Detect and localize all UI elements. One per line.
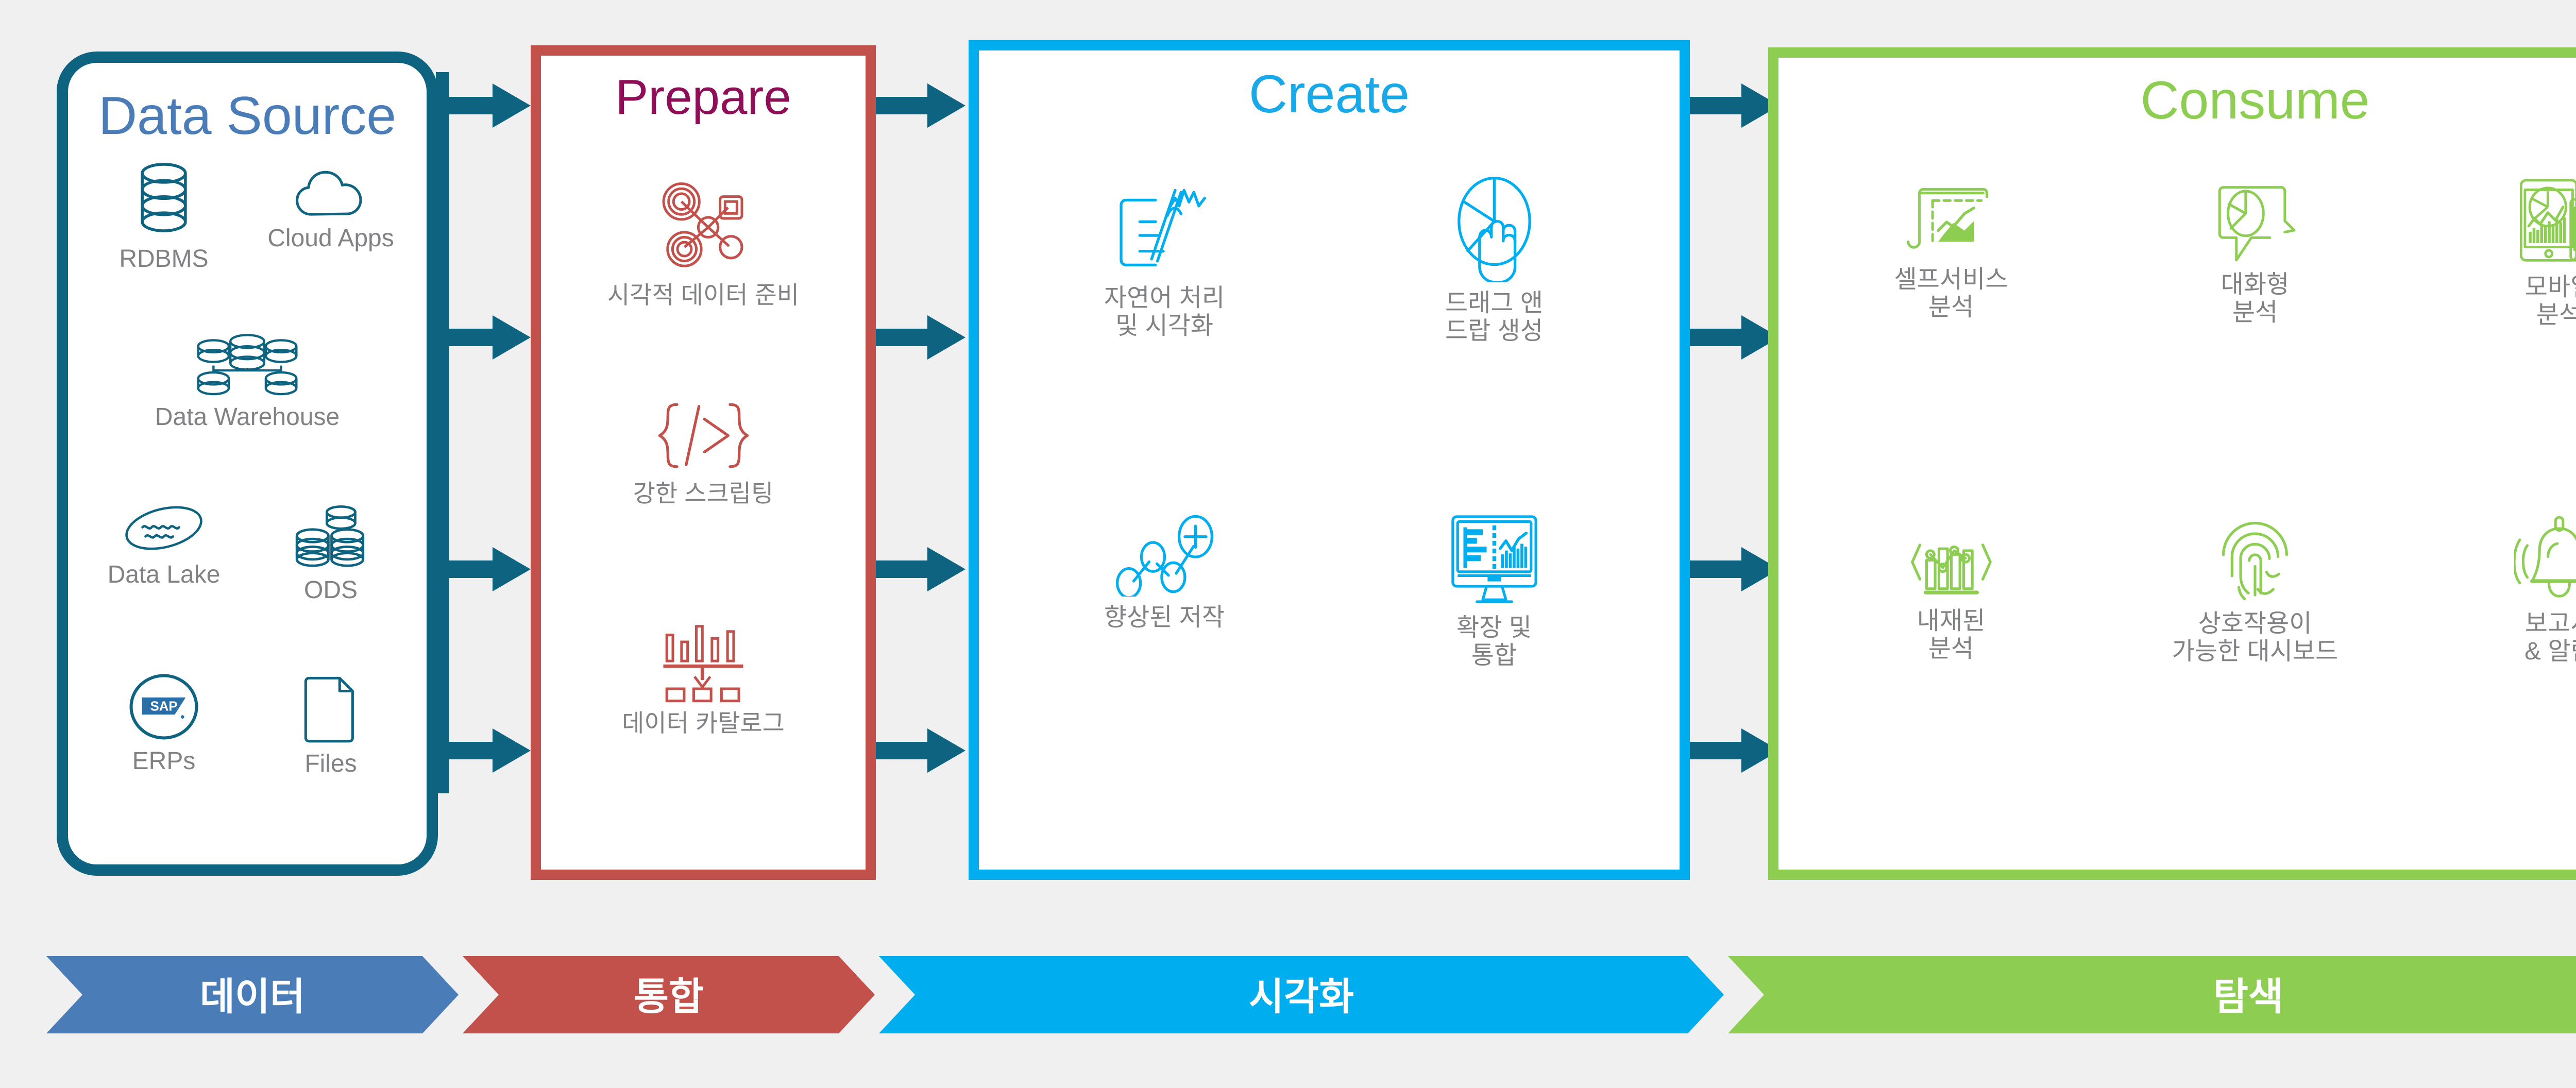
monitor-dashboard-icon — [1444, 512, 1545, 607]
item-mobile-analytics[interactable]: 모바일 분석 — [2407, 176, 2576, 513]
item-label: ERPs — [132, 747, 196, 775]
mobile-analytics-icon — [2512, 176, 2576, 266]
item-label: 셀프서비스 분석 — [1894, 266, 2008, 321]
item-erps[interactable]: SAP ERPs — [80, 673, 247, 844]
item-label: 드래그 앤 드랍 생성 — [1445, 290, 1543, 345]
item-files[interactable]: Files — [247, 673, 414, 844]
consume-item-grid: 셀프서비스 분석 대화형 분석 — [1799, 176, 2576, 849]
item-data-warehouse[interactable]: Data Warehouse — [80, 332, 414, 503]
item-label: 내재된 분석 — [1917, 607, 1985, 663]
item-strong-scripting[interactable]: 강한 스크립팅 — [549, 398, 857, 622]
item-label: 자연어 처리 및 시각화 — [1104, 284, 1225, 340]
item-interactive-dashboard[interactable]: 상호작용이 가능한 대시보드 — [2103, 513, 2407, 849]
panel-prepare: Prepare 시각적 데이터 준비 — [531, 45, 876, 880]
arrows-source-to-prepare — [436, 72, 539, 793]
file-document-icon — [302, 673, 359, 743]
item-label: 강한 스크립팅 — [633, 480, 774, 507]
item-nlp-visualization[interactable]: 자연어 처리 및 시각화 — [999, 174, 1329, 512]
panel-title-consume: Consume — [1778, 70, 2576, 131]
svg-text:SAP: SAP — [150, 699, 178, 713]
item-label: Data Lake — [108, 561, 221, 589]
data-catalog-icon — [654, 623, 752, 703]
process-ribbon: 데이터 통합 시각화 탐색 — [0, 956, 2576, 1033]
panel-create: Create 자연어 처리 및 시각화 — [969, 40, 1690, 880]
diagram-canvas: Data Source RDBMS — [0, 0, 2576, 1088]
item-label: 대화형 분석 — [2221, 271, 2289, 327]
natural-language-chart-icon — [1110, 174, 1218, 277]
database-stack-icon — [130, 161, 197, 238]
fingerprint-touch-icon — [2214, 513, 2296, 603]
bell-alert-icon — [2514, 513, 2576, 603]
item-data-catalog[interactable]: 데이터 카탈로그 — [549, 623, 857, 847]
ribbon-step-label: 탐색 — [2213, 966, 2283, 1021]
data-warehouse-icon — [196, 332, 299, 396]
embedded-bars-icon — [1906, 513, 1996, 600]
item-self-service-analytics[interactable]: 셀프서비스 분석 — [1799, 176, 2103, 513]
ribbon-step-integrate[interactable]: 통합 — [463, 956, 875, 1033]
item-extend-integrate[interactable]: 확장 및 통합 — [1329, 512, 1659, 849]
speech-bubble-pie-icon — [2211, 176, 2299, 264]
item-rdbms[interactable]: RDBMS — [80, 161, 247, 332]
self-service-chart-icon — [1906, 176, 1996, 259]
item-embedded-analytics[interactable]: 내재된 분석 — [1799, 513, 2103, 849]
node-network-icon — [652, 174, 755, 275]
item-label: ODS — [304, 576, 358, 604]
item-cloud-apps[interactable]: Cloud Apps — [247, 161, 414, 332]
ribbon-step-visualize[interactable]: 시각화 — [879, 956, 1724, 1033]
item-visual-data-prep[interactable]: 시각적 데이터 준비 — [549, 174, 857, 398]
code-brackets-icon — [653, 398, 754, 473]
item-drag-and-drop[interactable]: 드래그 앤 드랍 생성 — [1329, 174, 1659, 512]
panel-consume: Consume — [1768, 47, 2576, 880]
arrows-prepare-to-create — [876, 72, 972, 793]
item-label: Data Warehouse — [155, 403, 340, 431]
panel-data-source: Data Source RDBMS — [57, 52, 438, 876]
ribbon-step-label: 통합 — [634, 966, 704, 1021]
prepare-item-grid: 시각적 데이터 준비 강한 스크립팅 — [549, 174, 857, 847]
ribbon-step-label: 시각화 — [1249, 966, 1354, 1021]
item-label: Files — [304, 750, 357, 778]
item-label: 데이터 카탈로그 — [622, 710, 785, 737]
sap-logo-icon: SAP — [128, 673, 200, 740]
panel-title-data-source: Data Source — [68, 86, 427, 147]
item-label: 확장 및 통합 — [1456, 614, 1532, 670]
item-ods[interactable]: ODS — [247, 502, 414, 673]
ribbon-step-explore[interactable]: 탐색 — [1728, 956, 2576, 1033]
hand-drag-pie-icon — [1447, 174, 1542, 282]
ribbon-step-label: 데이터 — [200, 966, 305, 1021]
item-label: 모바일 분석 — [2525, 274, 2576, 329]
item-label: 보고서 & 알람 — [2524, 610, 2576, 666]
panel-title-create: Create — [979, 64, 1680, 125]
node-link-plus-icon — [1114, 512, 1215, 597]
data-lake-icon — [123, 502, 205, 554]
item-label: 향상된 저작 — [1104, 604, 1225, 632]
item-enhanced-authoring[interactable]: 향상된 저작 — [999, 512, 1329, 849]
create-item-grid: 자연어 처리 및 시각화 드래그 앤 드랍 생성 — [999, 174, 1659, 849]
data-source-item-grid: RDBMS Cloud Apps — [80, 161, 414, 844]
item-label: 상호작용이 가능한 대시보드 — [2172, 610, 2338, 666]
item-reports-alerts[interactable]: 보고서 & 알람 — [2407, 513, 2576, 849]
item-label: RDBMS — [119, 245, 208, 273]
item-data-lake[interactable]: Data Lake — [80, 502, 247, 673]
item-label: 시각적 데이터 준비 — [607, 282, 799, 309]
item-label: Cloud Apps — [267, 225, 394, 252]
ribbon-step-data[interactable]: 데이터 — [46, 956, 459, 1033]
item-conversational-analytics[interactable]: 대화형 분석 — [2103, 176, 2407, 513]
panel-title-prepare: Prepare — [541, 69, 866, 126]
ods-database-group-icon — [292, 502, 369, 569]
cloud-icon — [292, 161, 369, 217]
